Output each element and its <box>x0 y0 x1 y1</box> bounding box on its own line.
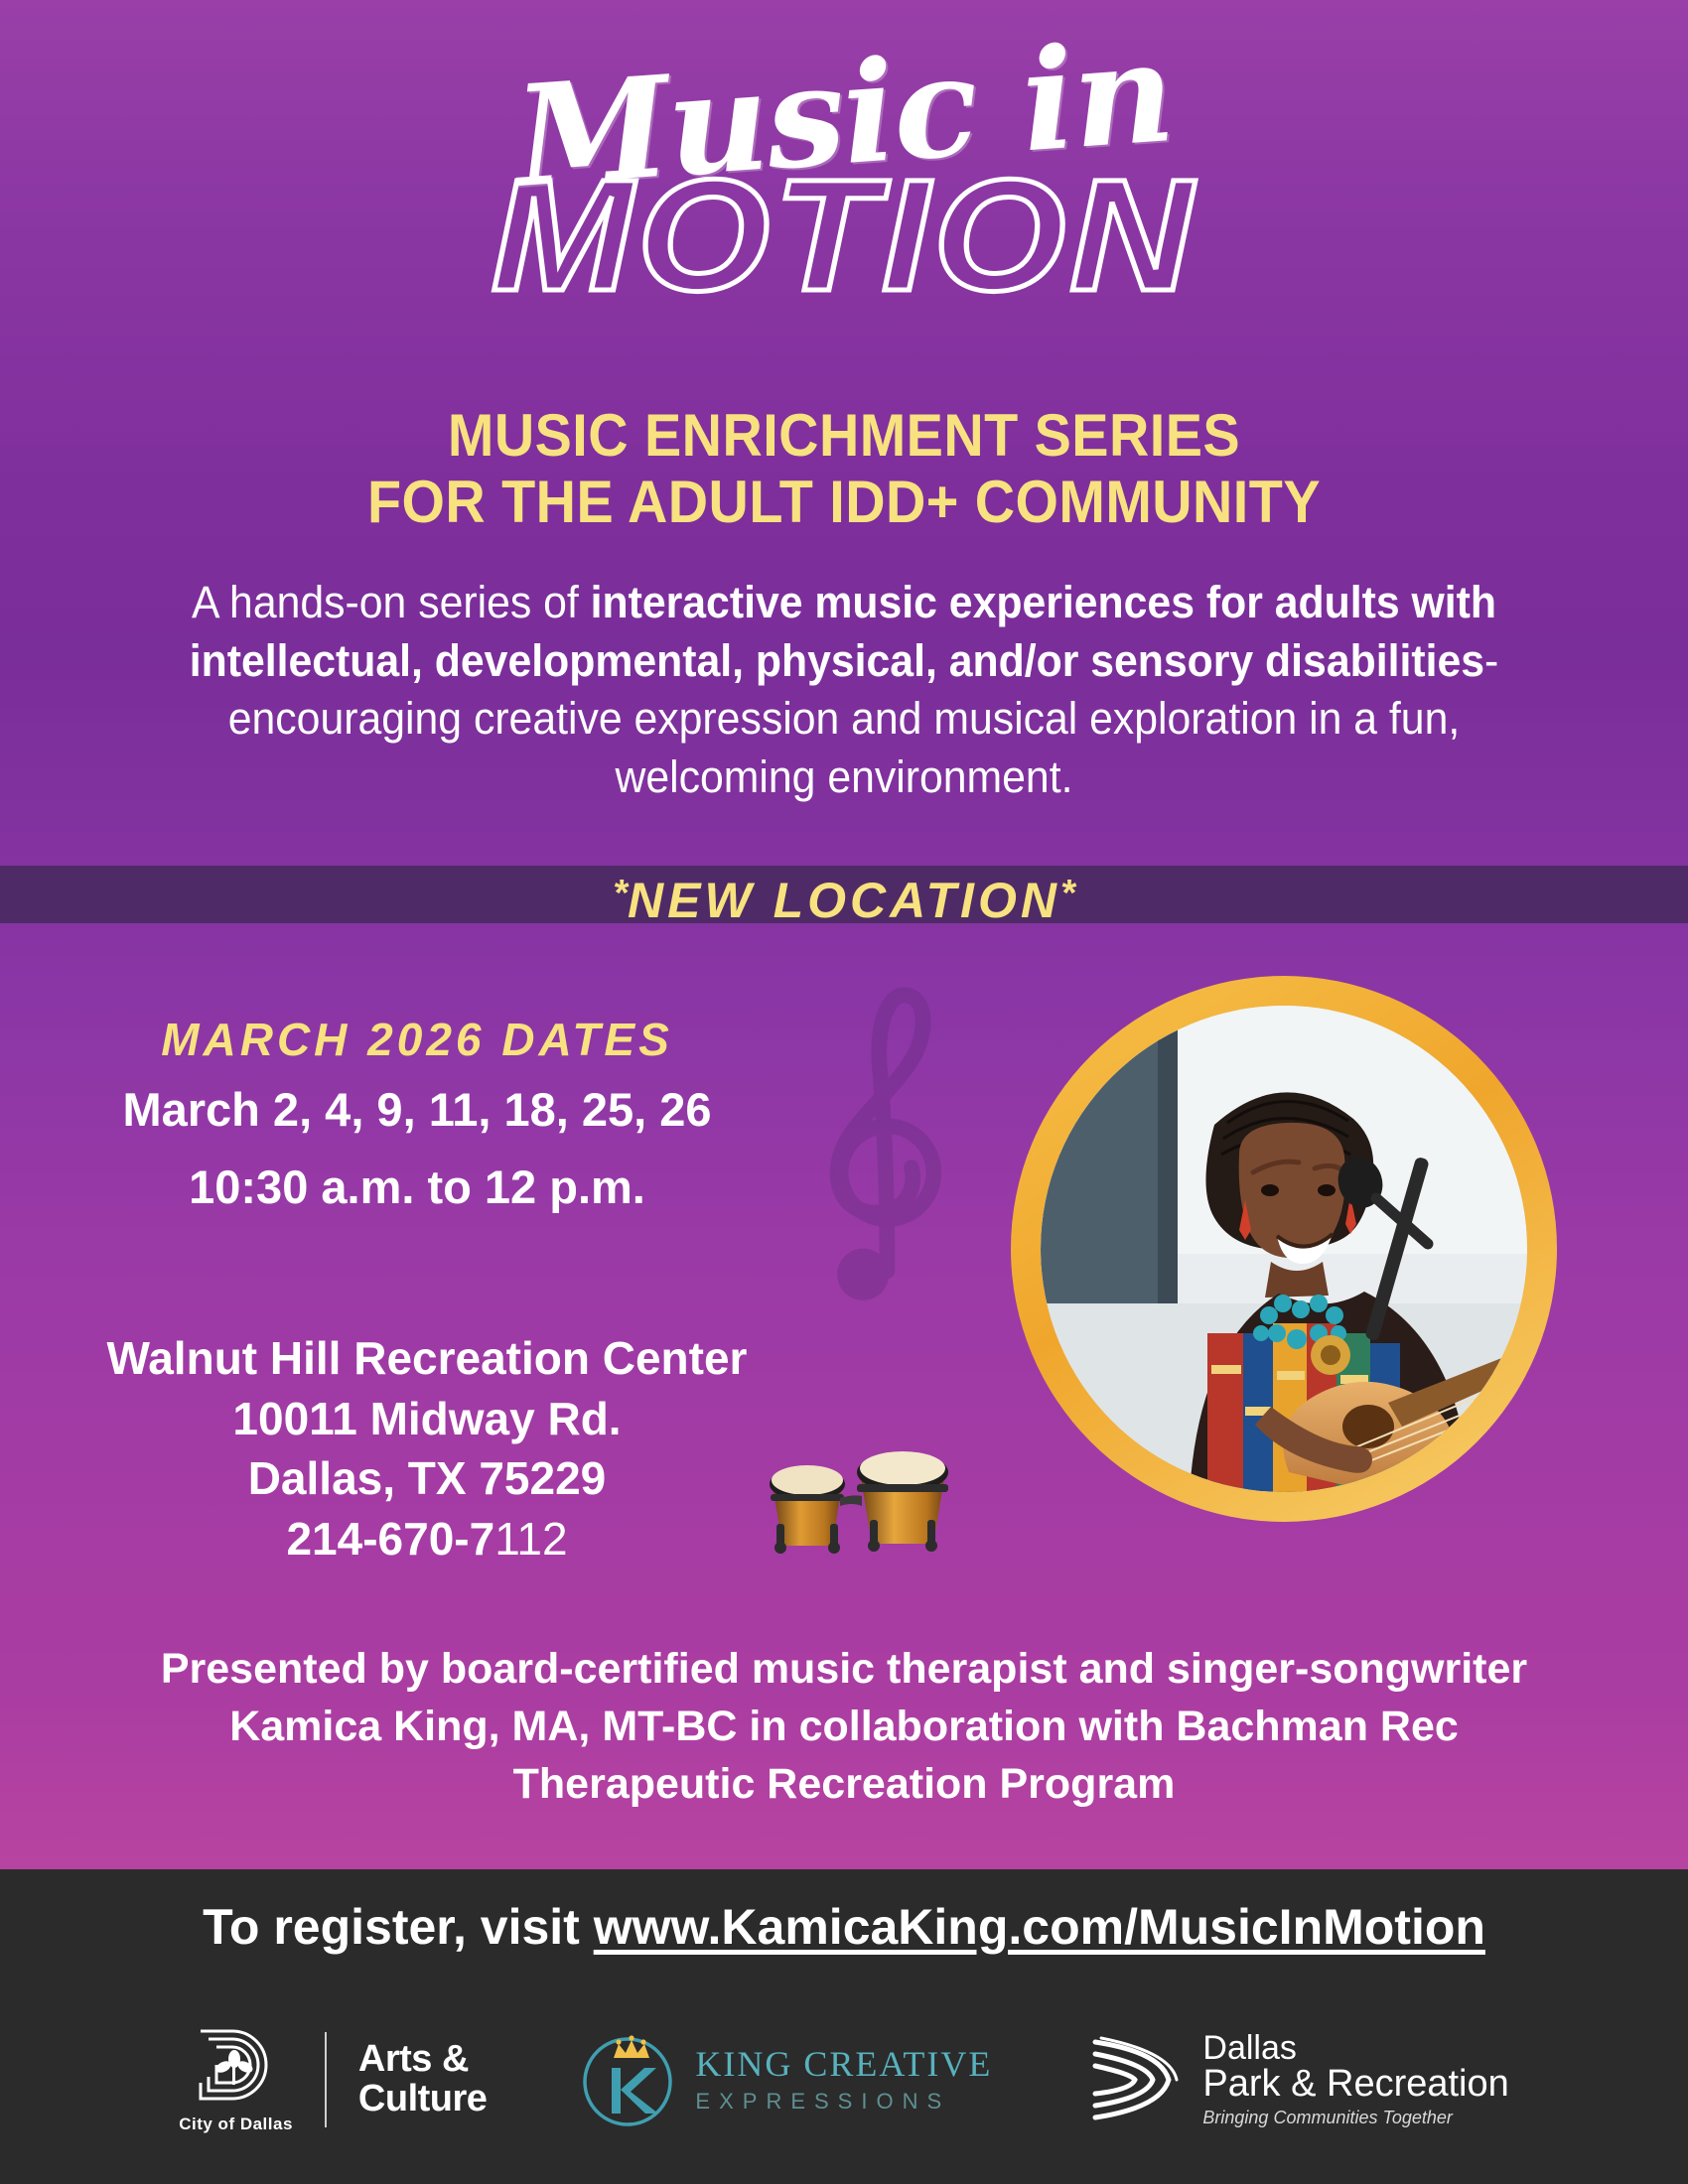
flyer-canvas: Music in MOTION MUSIC ENRICHMENT SERIES … <box>0 0 1688 2184</box>
venue-phone[interactable]: 214-670-7112 <box>30 1509 824 1570</box>
flyer-subtitle: MUSIC ENRICHMENT SERIES FOR THE ADULT ID… <box>60 402 1629 535</box>
performer-photo <box>1041 1006 1527 1492</box>
partner-logos: City of Dallas Arts & Culture <box>0 2005 1688 2154</box>
park-rec-line-1: Dallas <box>1202 2031 1508 2066</box>
flyer-title: Music in MOTION <box>0 50 1688 307</box>
king-creative-line-1: KING CREATIVE <box>695 2045 992 2085</box>
venue-street: 10011 Midway Rd. <box>30 1389 824 1449</box>
city-of-dallas-caption: City of Dallas <box>179 2115 293 2134</box>
subtitle-line-2: FOR THE ADULT IDD+ COMMUNITY <box>60 469 1629 535</box>
logo-dallas-park-recreation: Dallas Park & Recreation Bringing Commun… <box>1081 2031 1508 2129</box>
park-rec-line-2: Park & Recreation <box>1202 2065 1508 2105</box>
description-part-1: A hands-on series of <box>192 577 591 627</box>
dates-time: 10:30 a.m. to 12 p.m. <box>40 1160 794 1214</box>
asterisk-left-icon: * <box>613 873 628 914</box>
register-url[interactable]: www.KamicaKing.com/MusicInMotion <box>594 1899 1485 1955</box>
venue-name: Walnut Hill Recreation Center <box>30 1328 824 1389</box>
location-block: Walnut Hill Recreation Center 10011 Midw… <box>30 1328 824 1570</box>
city-of-dallas-mark: City of Dallas <box>179 2025 293 2134</box>
park-rec-swoosh-icon <box>1081 2032 1189 2127</box>
presenter-credit: Presented by board-certified music thera… <box>139 1640 1549 1813</box>
flyer-description: A hands-on series of interactive music e… <box>160 574 1528 806</box>
phone-main: 214-670-7 <box>286 1513 494 1565</box>
treble-clef-icon <box>794 978 973 1305</box>
arts-culture-line-1: Arts & <box>358 2040 488 2080</box>
logo-king-creative-arts: KING CREATIVE EXPRESSIONS <box>576 2028 992 2131</box>
subtitle-line-1: MUSIC ENRICHMENT SERIES <box>60 402 1629 469</box>
title-outline-line: MOTION <box>0 164 1688 307</box>
logo-city-of-dallas-arts-culture: City of Dallas Arts & Culture <box>179 2025 487 2134</box>
asterisk-right-icon: * <box>1060 873 1075 914</box>
phone-tail: 112 <box>494 1513 567 1565</box>
venue-city-state-zip: Dallas, TX 75229 <box>30 1448 824 1509</box>
performer-photo-illustration <box>1041 1006 1527 1492</box>
king-creative-wordmark: KING CREATIVE EXPRESSIONS <box>695 2045 992 2115</box>
dates-heading: MARCH 2026 DATES <box>60 1013 774 1066</box>
park-rec-tagline: Bringing Communities Together <box>1202 2108 1508 2128</box>
dallas-d-icon <box>191 2025 282 2111</box>
bongo-drums-icon <box>745 1433 983 1562</box>
new-location-label-wrap: *NEW LOCATION* <box>0 862 1688 932</box>
register-prefix: To register, visit <box>203 1899 594 1955</box>
king-creative-line-2: EXPRESSIONS <box>695 2089 992 2115</box>
new-location-label: NEW LOCATION <box>628 873 1060 928</box>
photo-ring <box>1011 976 1557 1522</box>
park-rec-wordmark: Dallas Park & Recreation Bringing Commun… <box>1202 2031 1508 2129</box>
dates-list: March 2, 4, 9, 11, 18, 25, 26 <box>40 1082 794 1137</box>
arts-culture-line-2: Culture <box>358 2080 488 2119</box>
arts-culture-wordmark: Arts & Culture <box>358 2040 488 2118</box>
logo-divider <box>325 2032 327 2127</box>
king-k-crown-icon <box>576 2028 679 2131</box>
register-line: To register, visit www.KamicaKing.com/Mu… <box>0 1898 1688 1956</box>
